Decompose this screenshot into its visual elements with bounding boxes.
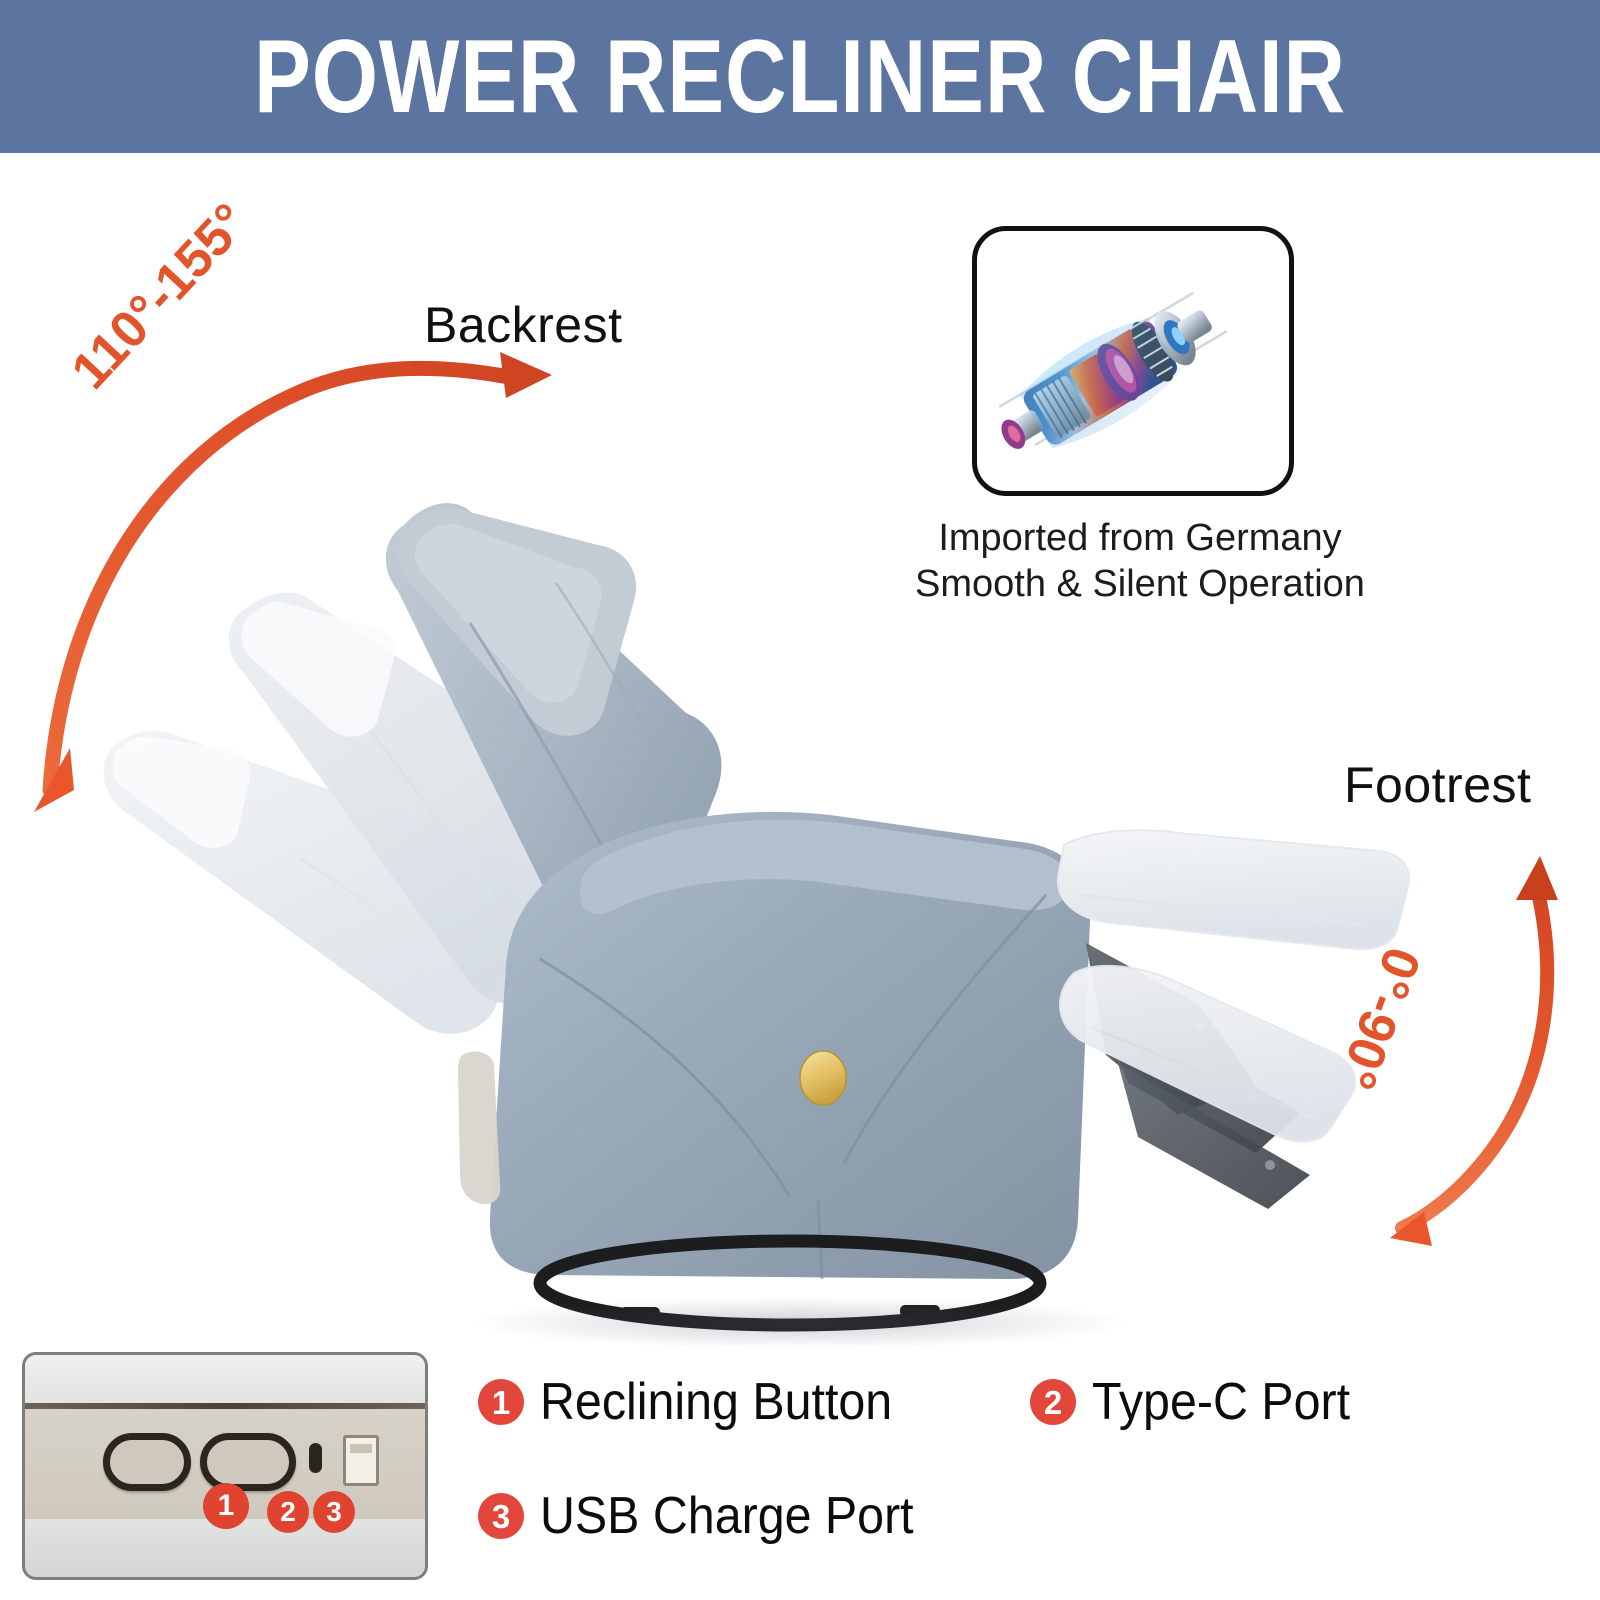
legend-item-usb-charge-port: 3 USB Charge Port — [478, 1486, 942, 1546]
legend-number-1: 1 — [478, 1379, 524, 1425]
panel-upper-fabric — [25, 1355, 425, 1405]
motor-caption: Imported from Germany Smooth & Silent Op… — [890, 515, 1390, 607]
reclining-button-up[interactable] — [103, 1433, 191, 1491]
panel-marker-1: 1 — [203, 1483, 249, 1529]
panel-marker-3: 3 — [313, 1491, 355, 1533]
type-c-port[interactable] — [309, 1443, 322, 1473]
legend-label-2: Type-C Port — [1092, 1372, 1350, 1432]
motor-caption-line-2: Smooth & Silent Operation — [890, 561, 1390, 607]
legend-item-type-c-port: 2 Type-C Port — [1030, 1372, 1369, 1432]
legend-label-1: Reclining Button — [540, 1372, 892, 1432]
motor-caption-line-1: Imported from Germany — [890, 515, 1390, 561]
legend-label-3: USB Charge Port — [540, 1486, 914, 1546]
footrest-angle-arrow — [1390, 856, 1558, 1246]
usb-charge-port[interactable] — [343, 1435, 379, 1486]
infographic-canvas: POWER RECLINER CHAIR — [0, 0, 1600, 1600]
panel-marker-2: 2 — [267, 1491, 309, 1533]
reclining-button-down[interactable] — [200, 1433, 296, 1491]
motor-inset-box — [972, 226, 1294, 496]
electric-motor-cutaway-icon — [977, 231, 1279, 481]
footrest-label: Footrest — [1344, 756, 1531, 814]
legend-number-3: 3 — [478, 1493, 524, 1539]
control-panel-photo: 1 2 3 — [22, 1352, 428, 1580]
legend-item-reclining-button: 1 Reclining Button — [478, 1372, 919, 1432]
backrest-angle-arrow — [34, 352, 552, 812]
backrest-label: Backrest — [424, 296, 623, 354]
legend-number-2: 2 — [1030, 1379, 1076, 1425]
